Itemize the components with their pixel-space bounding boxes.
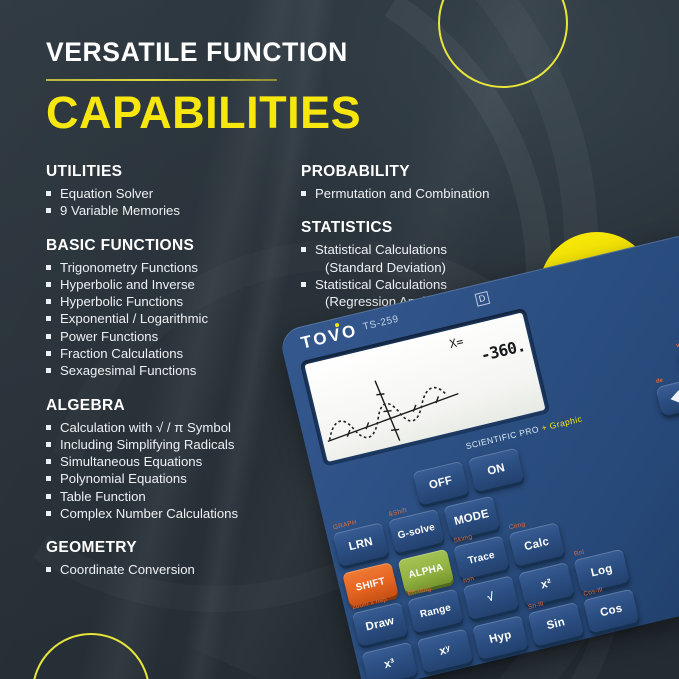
feature-item-label: Trigonometry Functions (60, 260, 198, 275)
feature-item-label: Statistical Calculations (315, 277, 447, 292)
feature-list-item: Equation Solver (46, 185, 286, 202)
calculator-key-hyp[interactable]: Hyp (472, 615, 529, 660)
feature-item-label: Exponential / Logarithmic (60, 311, 208, 326)
bullet-square-icon (46, 299, 51, 304)
calculator-key-[interactable]: nsn√ (463, 575, 520, 620)
bullet-square-icon (46, 265, 51, 270)
feature-item-label: (Standard Deviation) (325, 260, 446, 275)
key-secondary-label: nsn (462, 575, 474, 584)
key-label: OFF (428, 475, 454, 492)
feature-item-label: Fraction Calculations (60, 346, 183, 361)
feature-group-title: STATISTICS (301, 219, 546, 237)
key-label: MODE (453, 508, 490, 528)
bullet-square-icon (46, 494, 51, 499)
bullet-square-icon (46, 459, 51, 464)
key-secondary-label: Rnl (573, 549, 585, 558)
calculator-key-sin[interactable]: Sn-lllSin (528, 602, 585, 647)
bullet-square-icon (46, 368, 51, 373)
feature-list: Trigonometry FunctionsHyperbolic and Inv… (46, 259, 286, 380)
key-label: xʸ (438, 644, 451, 658)
bullet-square-icon (46, 442, 51, 447)
bullet-square-icon (46, 511, 51, 516)
feature-item-label: Equation Solver (60, 186, 153, 201)
feature-item-label: Hyperbolic and Inverse (60, 277, 195, 292)
feature-list: Coordinate Conversion (46, 561, 286, 578)
arrow-key-secondary-label: de (655, 378, 663, 385)
feature-group-title: ALGEBRA (46, 397, 286, 415)
calculator-key-off[interactable]: OFF (413, 461, 470, 506)
bullet-square-icon (46, 191, 51, 196)
feature-item-label: Polynomial Equations (60, 471, 187, 486)
feature-list-item: Simultaneous Equations (46, 453, 286, 470)
feature-group: PROBABILITYPermutation and Combination (301, 163, 546, 202)
calculator-key-calc[interactable]: CirngCalc (508, 522, 565, 567)
feature-list-item: (Standard Deviation) (301, 259, 546, 276)
eyebrow-heading: VERSATILE FUNCTION (46, 38, 466, 67)
feature-list-item: Fraction Calculations (46, 345, 286, 362)
calculator-key-x[interactable]: x² (518, 562, 575, 607)
feature-item-label: Table Function (60, 489, 146, 504)
feature-list-item: Sexagesimal Functions (46, 362, 286, 379)
feature-list: Calculation with √ / π SymbolIncluding S… (46, 419, 286, 523)
feature-group-title: PROBABILITY (301, 163, 546, 181)
feature-group: ALGEBRACalculation with √ / π SymbolIncl… (46, 397, 286, 523)
feature-item-label: Simultaneous Equations (60, 454, 202, 469)
key-label: Sin (545, 616, 566, 632)
key-label: Cos (599, 602, 624, 619)
feature-list: Equation Solver9 Variable Memories (46, 185, 286, 220)
feature-list-item: Complex Number Calculations (46, 505, 286, 522)
calculator-key-on[interactable]: ON (468, 448, 525, 493)
screen-x-label: X= (448, 334, 465, 351)
feature-list-item: Power Functions (46, 328, 286, 345)
calculator-key-x[interactable]: xʸ (417, 628, 474, 673)
bullet-square-icon (46, 476, 51, 481)
feature-group: BASIC FUNCTIONSTrigonometry FunctionsHyp… (46, 237, 286, 380)
feature-list-item: Table Function (46, 488, 286, 505)
bullet-square-icon (46, 334, 51, 339)
key-label: √ (486, 591, 495, 604)
feature-list: Permutation and Combination (301, 185, 546, 202)
feature-group-title: UTILITIES (46, 163, 286, 181)
key-label: SHIFT (355, 576, 387, 594)
bullet-square-icon (46, 208, 51, 213)
feature-list-item: Exponential / Logarithmic (46, 310, 286, 327)
calculator-key-trace[interactable]: SkimgTrace (453, 535, 510, 580)
bullet-square-icon (46, 425, 51, 430)
feature-group-title: BASIC FUNCTIONS (46, 237, 286, 255)
feature-list-item: Hyperbolic and Inverse (46, 276, 286, 293)
feature-list-item: Statistical Calculations (301, 241, 546, 258)
feature-group: GEOMETRYCoordinate Conversion (46, 539, 286, 578)
display-mode-indicator: D (475, 291, 490, 307)
key-label: Calc (523, 536, 550, 554)
feature-list-item: 9 Variable Memories (46, 202, 286, 219)
key-label: x³ (383, 657, 396, 671)
feature-list-item: Hyperbolic Functions (46, 293, 286, 310)
feature-list-item: Including Simplifying Radicals (46, 436, 286, 453)
screen-sine-graph (313, 352, 476, 459)
feature-group: UTILITIESEquation Solver9 Variable Memor… (46, 163, 286, 220)
sub-label-graphic: Graphic (549, 414, 584, 431)
bullet-square-icon (46, 351, 51, 356)
screen-value: -360. (479, 336, 527, 365)
sub-label-plus: + (540, 422, 548, 433)
key-label: Range (419, 602, 452, 620)
key-label: x² (540, 577, 553, 591)
calculator-model-label: TS-259 (362, 314, 400, 333)
feature-list-item: Polynomial Equations (46, 470, 286, 487)
bullet-square-icon (301, 191, 306, 196)
bullet-square-icon (46, 282, 51, 287)
key-label: Trace (467, 549, 496, 566)
feature-item-label: Sexagesimal Functions (60, 363, 196, 378)
bullet-square-icon (301, 247, 306, 252)
feature-list-item: Coordinate Conversion (46, 561, 286, 578)
calculator-key-draw[interactable]: zoom x nepDraw (352, 602, 409, 647)
page-title: CAPABILITIES (46, 90, 466, 135)
bullet-square-icon (46, 567, 51, 572)
feature-item-label: Power Functions (60, 329, 158, 344)
feature-list-item: Permutation and Combination (301, 185, 546, 202)
calculator-key-cos[interactable]: Cos-lllCos (583, 589, 640, 634)
infographic-canvas: VERSATILE FUNCTION CAPABILITIES UTILITIE… (0, 0, 679, 679)
feature-item-label: Calculation with √ / π Symbol (60, 420, 231, 435)
title-divider (46, 79, 277, 81)
bullet-square-icon (301, 282, 306, 287)
calculator-key-lrn[interactable]: GRAPHLRN (333, 522, 390, 567)
key-label: Log (590, 563, 614, 580)
feature-item-label: Including Simplifying Radicals (60, 437, 234, 452)
feature-item-label: Hyperbolic Functions (60, 294, 183, 309)
calculator-key-g-solve[interactable]: &ShiftG-solve (388, 509, 445, 554)
feature-list-item: Trigonometry Functions (46, 259, 286, 276)
calculator-key-range[interactable]: Eh-mngRange (407, 589, 464, 634)
feature-item-label: Coordinate Conversion (60, 562, 195, 577)
feature-item-label: Statistical Calculations (315, 242, 447, 257)
title-block: VERSATILE FUNCTION CAPABILITIES (46, 38, 466, 135)
key-label: G-solve (397, 521, 437, 541)
key-label: ON (486, 462, 506, 478)
decorative-ring-bottom (32, 633, 150, 679)
arrow-left-icon (669, 390, 679, 406)
calculator-key-mode[interactable]: MODE (443, 496, 500, 541)
bullet-square-icon (46, 316, 51, 321)
arrow-key-left[interactable] (655, 379, 679, 416)
feature-list-item: Calculation with √ / π Symbol (46, 419, 286, 436)
key-label: Hyp (488, 629, 513, 646)
feature-group-title: GEOMETRY (46, 539, 286, 557)
key-label: Draw (365, 615, 396, 633)
calculator-key-x[interactable]: x³ (361, 642, 418, 679)
key-label: ALPHA (407, 562, 444, 581)
feature-column-left: UTILITIESEquation Solver9 Variable Memor… (46, 163, 286, 579)
feature-item-label: 9 Variable Memories (60, 203, 180, 218)
key-label: LRN (348, 536, 374, 553)
feature-item-label: Permutation and Combination (315, 186, 489, 201)
feature-item-label: Complex Number Calculations (60, 506, 238, 521)
